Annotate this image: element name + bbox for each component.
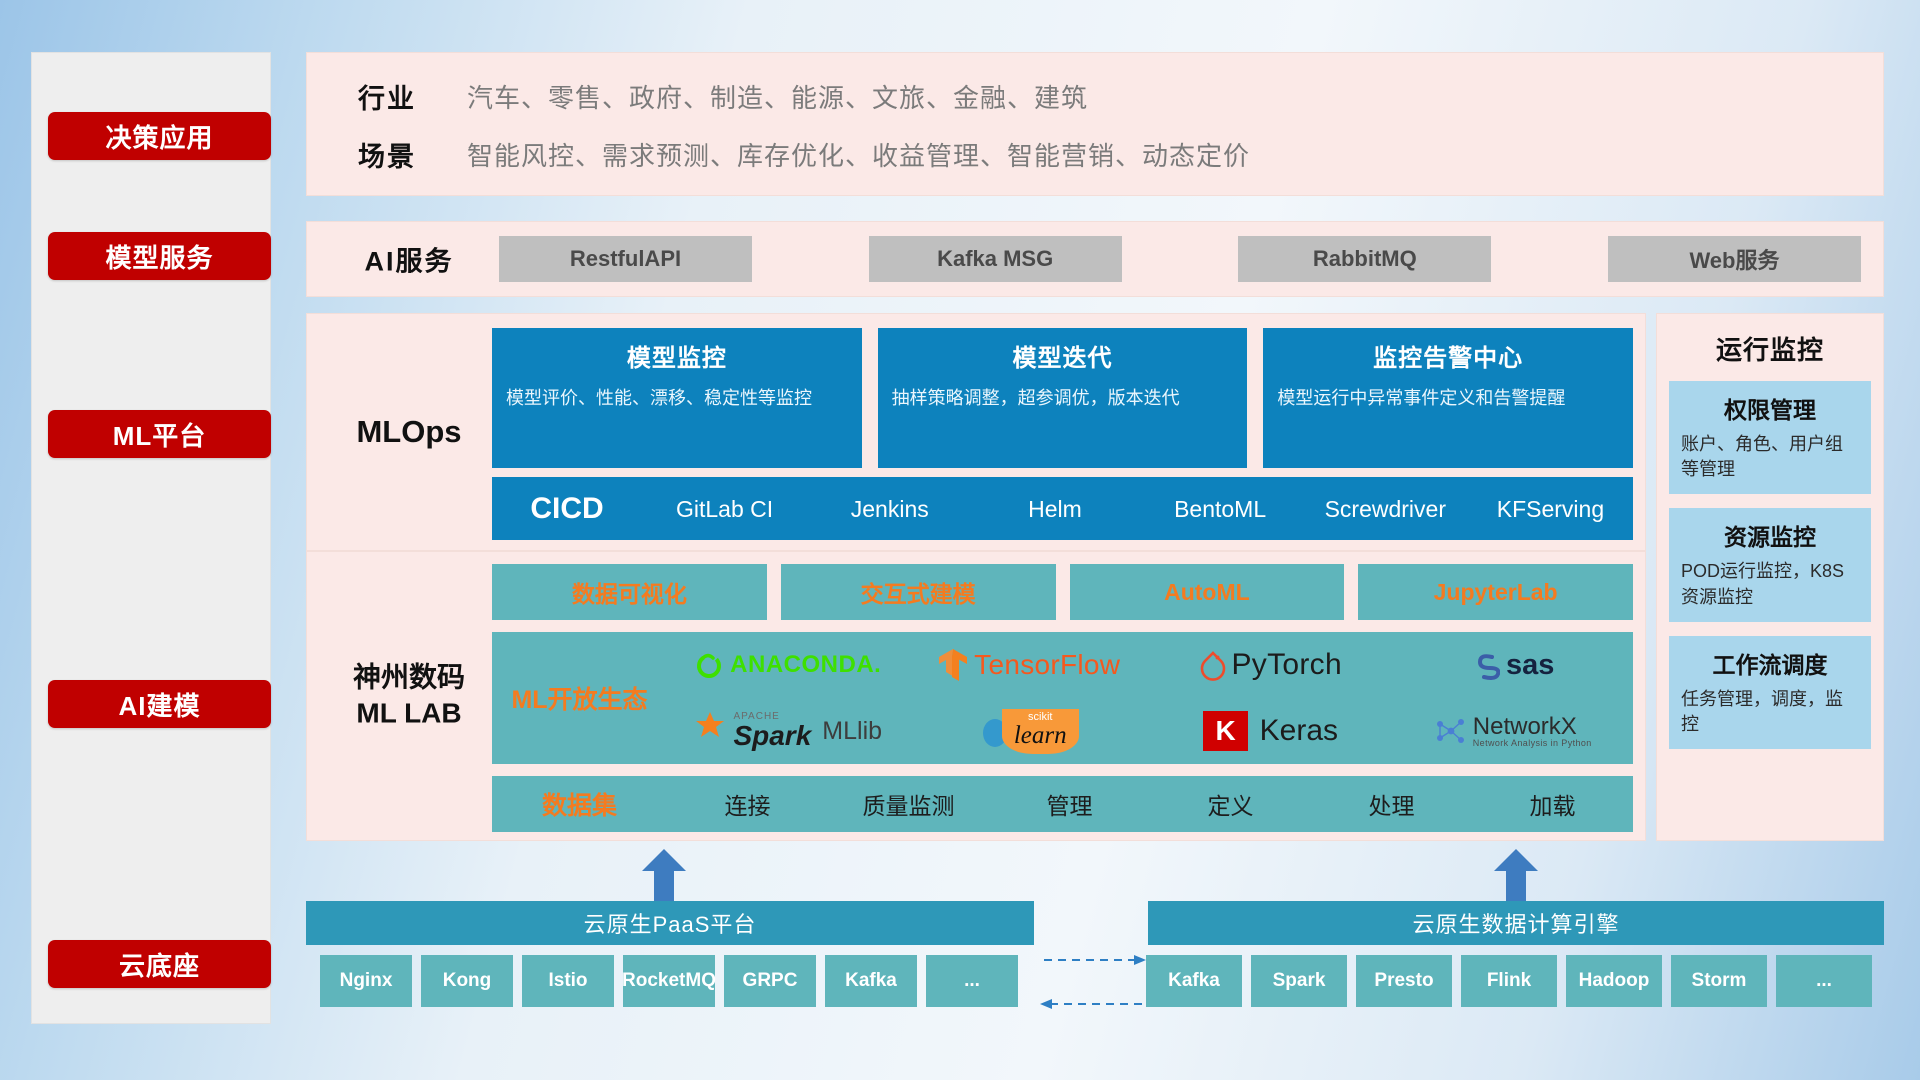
paas-pill-kong[interactable]: Kong [421, 955, 513, 1007]
cicd-item-jenkins[interactable]: Jenkins [807, 494, 972, 524]
spark-mllib-logo: APACHE Spark MLlib [693, 710, 882, 752]
dataset-item-load[interactable]: 加载 [1472, 787, 1633, 821]
paas-pill-more[interactable]: ... [926, 955, 1018, 1007]
anaconda-logo-text: ANACONDA. [730, 651, 881, 679]
monitoring-card-resource[interactable]: 资源监控 POD运行监控，K8S资源监控 [1669, 508, 1871, 621]
ai-service-label: AI服务 [329, 240, 489, 279]
tool-tab-jupyterlab[interactable]: JupyterLab [1358, 564, 1633, 620]
mlops-card-alert-center[interactable]: 监控告警中心 模型运行中异常事件定义和告警提醒 [1263, 328, 1633, 468]
sas-logo-text: sas [1506, 649, 1554, 682]
mlops-card-list: 模型监控 模型评价、性能、漂移、稳定性等监控 模型迭代 抽样策略调整，超参调优，… [492, 328, 1633, 468]
engine-pill-hadoop[interactable]: Hadoop [1566, 955, 1662, 1007]
dataset-label: 数据集 [492, 786, 667, 822]
tensorflow-logo: TensorFlow [938, 647, 1120, 683]
engine-pill-presto[interactable]: Presto [1356, 955, 1452, 1007]
ml-lab-label-line1: 神州数码 [325, 660, 493, 696]
ai-service-chip-restfulapi[interactable]: RestfulAPI [499, 236, 752, 282]
rail-chip-decision-app[interactable]: 决策应用 [48, 112, 271, 160]
tool-tab-data-visualization[interactable]: 数据可视化 [492, 564, 767, 620]
ai-service-band: AI服务 RestfulAPI Kafka MSG RabbitMQ Web服务 [306, 221, 1884, 297]
scikit-sup-text: scikit [1028, 712, 1052, 723]
keras-logo-text: Keras [1260, 714, 1338, 748]
paas-pill-rocketmq[interactable]: RocketMQ [623, 955, 715, 1007]
up-arrow-data-engine [1494, 849, 1538, 901]
dataset-item-manage[interactable]: 管理 [989, 787, 1150, 821]
rail-chip-label: AI建模 [118, 686, 200, 723]
card-title: 模型监控 [506, 338, 848, 373]
engine-pill-kafka[interactable]: Kafka [1146, 955, 1242, 1007]
chip-label: RabbitMQ [1313, 246, 1417, 272]
chip-label: Web服务 [1689, 243, 1779, 275]
anaconda-logo: ANACONDA. [694, 650, 881, 680]
engine-pill-flink[interactable]: Flink [1461, 955, 1557, 1007]
spark-logo-text: Spark [733, 722, 811, 750]
scikit-learn-logo: scikit learn [980, 709, 1079, 754]
dataset-item-process[interactable]: 处理 [1311, 787, 1472, 821]
cicd-item-list: GitLab CI Jenkins Helm BentoML Screwdriv… [642, 494, 1633, 524]
card-desc: 任务管理，调度，监控 [1681, 687, 1859, 737]
ml-lab-column: 数据可视化 交互式建模 AutoML JupyterLab ML开放生态 ANA… [492, 564, 1633, 828]
networkx-logo-text: NetworkX [1473, 714, 1592, 739]
card-desc: 抽样策略调整，超参调优，版本迭代 [892, 385, 1234, 411]
engine-pill-spark[interactable]: Spark [1251, 955, 1347, 1007]
rail-chip-label: ML平台 [113, 416, 207, 453]
monitoring-card-workflow[interactable]: 工作流调度 任务管理，调度，监控 [1669, 636, 1871, 749]
networkx-tagline: Network Analysis in Python [1473, 739, 1592, 748]
up-arrow-paas [642, 849, 686, 901]
scenario-row: 场景 智能风控、需求预测、库存优化、收益管理、智能营销、动态定价 [307, 135, 1883, 174]
card-title: 监控告警中心 [1277, 338, 1619, 373]
pytorch-logo: PyTorch [1200, 648, 1342, 682]
keras-logo: K Keras [1203, 711, 1338, 751]
card-desc: 账户、角色、用户组等管理 [1681, 432, 1859, 482]
card-desc: 模型评价、性能、漂移、稳定性等监控 [506, 385, 848, 411]
ai-service-chip-rabbitmq[interactable]: RabbitMQ [1238, 236, 1491, 282]
rail-chip-cloud-base[interactable]: 云底座 [48, 940, 271, 988]
paas-pill-nginx[interactable]: Nginx [320, 955, 412, 1007]
industry-label: 行业 [307, 77, 467, 116]
chip-label: Kafka MSG [937, 246, 1053, 272]
scenario-value: 智能风控、需求预测、库存优化、收益管理、智能营销、动态定价 [467, 136, 1250, 173]
tool-tab-automl[interactable]: AutoML [1070, 564, 1345, 620]
cicd-item-bentoml[interactable]: BentoML [1138, 494, 1303, 524]
keras-mark-text: K [1203, 711, 1247, 751]
ai-modeling-band: 神州数码 ML LAB 数据可视化 交互式建模 AutoML JupyterLa… [306, 551, 1646, 841]
paas-pill-istio[interactable]: Istio [522, 955, 614, 1007]
scikit-learn-logo-text: learn [1014, 723, 1067, 748]
ai-service-chip-list: RestfulAPI Kafka MSG RabbitMQ Web服务 [499, 236, 1861, 282]
cicd-item-helm[interactable]: Helm [972, 494, 1137, 524]
cicd-item-screwdriver[interactable]: Screwdriver [1303, 494, 1468, 524]
tool-tab-list: 数据可视化 交互式建模 AutoML JupyterLab [492, 564, 1633, 620]
card-title: 权限管理 [1681, 391, 1859, 425]
card-title: 工作流调度 [1681, 646, 1859, 680]
networkx-logo: NetworkX Network Analysis in Python [1433, 714, 1592, 749]
paas-pill-grpc[interactable]: GRPC [724, 955, 816, 1007]
industry-value: 汽车、零售、政府、制造、能源、文旅、金融、建筑 [467, 78, 1088, 115]
tensorflow-logo-text: TensorFlow [974, 649, 1120, 681]
mllib-logo-text: MLlib [822, 717, 882, 746]
pytorch-logo-text: PyTorch [1232, 648, 1342, 682]
engine-pill-more[interactable]: ... [1776, 955, 1872, 1007]
chip-label: RestfulAPI [570, 246, 681, 272]
mlops-card-model-monitoring[interactable]: 模型监控 模型评价、性能、漂移、稳定性等监控 [492, 328, 862, 468]
dataset-row: 数据集 连接 质量监测 管理 定义 处理 加载 [492, 776, 1633, 832]
card-title: 模型迭代 [892, 338, 1234, 373]
card-title: 资源监控 [1681, 518, 1859, 552]
paas-pill-list: Nginx Kong Istio RocketMQ GRPC Kafka ... [320, 955, 1018, 1007]
ml-ecosystem-logo-grid: ANACONDA. TensorFlow [667, 632, 1633, 764]
engine-pill-storm[interactable]: Storm [1671, 955, 1767, 1007]
runtime-monitoring-title: 运行监控 [1657, 330, 1883, 367]
rail-chip-model-service[interactable]: 模型服务 [48, 232, 271, 280]
scenario-label: 场景 [307, 135, 467, 174]
card-desc: POD运行监控，K8S资源监控 [1681, 559, 1859, 609]
architecture-diagram: 决策应用 模型服务 ML平台 AI建模 云底座 行业 汽车、零售、政府、制造、能… [0, 0, 1920, 1080]
runtime-monitoring-band: 运行监控 权限管理 账户、角色、用户组等管理 资源监控 POD运行监控，K8S资… [1656, 313, 1884, 841]
dataset-item-connect[interactable]: 连接 [667, 787, 828, 821]
data-engine-bar[interactable]: 云原生数据计算引擎 [1148, 901, 1884, 945]
dataset-item-quality[interactable]: 质量监测 [828, 787, 989, 821]
rail-chip-label: 模型服务 [105, 238, 213, 275]
ml-ecosystem-label: ML开放生态 [492, 680, 667, 716]
data-engine-pill-list: Kafka Spark Presto Flink Hadoop Storm ..… [1146, 955, 1872, 1007]
mlops-band: MLOps 模型监控 模型评价、性能、漂移、稳定性等监控 模型迭代 抽样策略调整… [306, 313, 1646, 551]
mlops-label: MLOps [329, 414, 489, 450]
layer-rail [31, 52, 271, 1024]
cicd-row: CICD GitLab CI Jenkins Helm BentoML Scre… [492, 477, 1633, 540]
mlops-card-model-iteration[interactable]: 模型迭代 抽样策略调整，超参调优，版本迭代 [878, 328, 1248, 468]
tool-tab-interactive-modeling[interactable]: 交互式建模 [781, 564, 1056, 620]
rail-chip-label: 云底座 [119, 946, 200, 983]
industry-row: 行业 汽车、零售、政府、制造、能源、文旅、金融、建筑 [307, 77, 1883, 116]
rail-chip-ml-platform[interactable]: ML平台 [48, 410, 271, 458]
card-desc: 模型运行中异常事件定义和告警提醒 [1277, 385, 1619, 411]
paas-platform-bar[interactable]: 云原生PaaS平台 [306, 901, 1034, 945]
ai-service-chip-web[interactable]: Web服务 [1608, 236, 1861, 282]
cicd-item-gitlab-ci[interactable]: GitLab CI [642, 494, 807, 524]
monitoring-card-permission[interactable]: 权限管理 账户、角色、用户组等管理 [1669, 381, 1871, 494]
ml-lab-label-line2: ML LAB [325, 696, 493, 732]
bidirectional-dashed-link [1040, 946, 1146, 1018]
ml-ecosystem-row: ML开放生态 ANACONDA. [492, 632, 1633, 764]
cicd-title: CICD [492, 492, 642, 526]
industry-scenario-band: 行业 汽车、零售、政府、制造、能源、文旅、金融、建筑 场景 智能风控、需求预测、… [306, 52, 1884, 196]
cicd-item-kfserving[interactable]: KFServing [1468, 494, 1633, 524]
rail-chip-ai-modeling[interactable]: AI建模 [48, 680, 271, 728]
sas-logo: sas [1470, 649, 1554, 682]
dataset-item-list: 连接 质量监测 管理 定义 处理 加载 [667, 787, 1633, 821]
dataset-item-define[interactable]: 定义 [1150, 787, 1311, 821]
rail-chip-label: 决策应用 [105, 118, 213, 155]
ai-service-chip-kafka-msg[interactable]: Kafka MSG [869, 236, 1122, 282]
paas-pill-kafka[interactable]: Kafka [825, 955, 917, 1007]
ml-lab-label: 神州数码 ML LAB [325, 660, 493, 733]
